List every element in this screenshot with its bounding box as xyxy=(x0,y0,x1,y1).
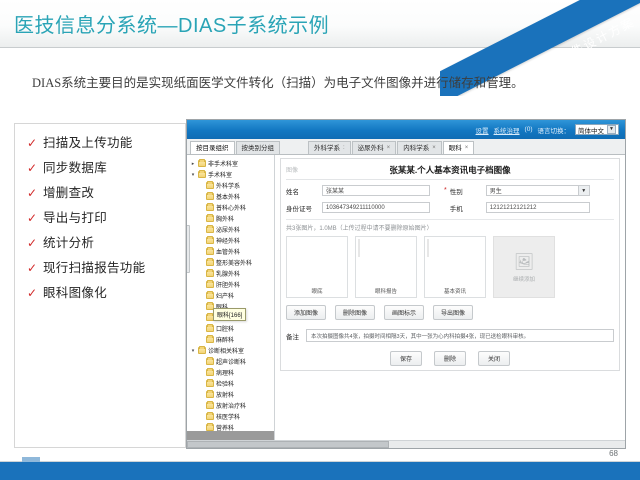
footer-bar xyxy=(0,462,640,480)
tree-node-label: 超声诊断科 xyxy=(216,357,246,366)
tree-node-label: 病理科 xyxy=(216,368,234,377)
tree-node[interactable]: 乳腺外科 xyxy=(189,268,274,279)
checklist-item: ✓同步数据库 xyxy=(27,161,177,175)
tree-node-label: 口腔科 xyxy=(216,324,234,333)
thumbnail-caption: 眼科报告 xyxy=(375,287,397,295)
checklist-item: ✓眼科图像化 xyxy=(27,286,177,300)
folder-icon xyxy=(206,325,214,332)
check-icon: ✓ xyxy=(27,236,43,250)
tab-label: 内科学系 xyxy=(403,143,429,154)
image-action-button-3[interactable]: 导出图像 xyxy=(433,305,473,320)
tree-node[interactable]: 放射治疗科 xyxy=(189,400,274,411)
app-topbar: 设置 系统治理 (0) 语言切换： 简体中文 ▼ xyxy=(187,120,625,139)
tree-node-label: 血管外科 xyxy=(216,247,240,256)
folder-icon xyxy=(206,292,214,299)
tree-node[interactable]: 普科心外科 xyxy=(189,202,274,213)
folder-icon xyxy=(206,413,214,420)
image-placeholder-icon: 🖼 xyxy=(514,252,534,272)
tree-tooltip: 眼科[166] xyxy=(213,308,246,321)
image-action-button-0[interactable]: 添加图像 xyxy=(286,305,326,320)
folder-icon xyxy=(206,424,214,431)
tree-node[interactable]: 麻醉科 xyxy=(189,334,274,345)
tree-node[interactable]: 泌尿外科 xyxy=(189,224,274,235)
close-icon[interactable]: × xyxy=(465,143,469,154)
form-row-id-tel: 身份证号 103647349211110000 * 手机 12121212121… xyxy=(286,202,614,213)
check-icon: ✓ xyxy=(27,186,43,200)
language-label: 语言切换： xyxy=(538,125,571,135)
checklist-item-label: 统计分析 xyxy=(43,236,94,250)
folder-icon xyxy=(206,248,214,255)
slide-root: 医技信息分系统—DIAS子系统示例 六、软件设计方案 DIAS系统主要目的是实现… xyxy=(0,0,640,480)
tree-node[interactable]: 血管外科 xyxy=(189,246,274,257)
expand-arrow-icon[interactable]: ▾ xyxy=(190,172,196,178)
form-divider xyxy=(286,179,614,180)
tree-node[interactable]: ▾诊断相关科室 xyxy=(189,345,274,356)
tree-node-label: 泌尿外科 xyxy=(216,225,240,234)
dias-application-window: 设置 系统治理 (0) 语言切换： 简体中文 ▼ 按目录组织按类别分组外科学系:… xyxy=(186,119,626,449)
tab-label: 外科学系 xyxy=(314,143,340,154)
form-footer-button-2[interactable]: 关闭 xyxy=(478,351,510,366)
image-count-note: 共3张图片，1.0MB（上传过程中请不要删除原始图片） xyxy=(286,219,614,232)
tree-node-label: 核医学科 xyxy=(216,412,240,421)
close-icon[interactable]: × xyxy=(432,143,436,154)
gender-value: 男生 xyxy=(490,186,502,195)
remark-label: 备注 xyxy=(286,331,306,341)
checklist-item-label: 现行扫描报告功能 xyxy=(43,261,145,275)
tree-node[interactable]: 放射科 xyxy=(189,389,274,400)
checklist-item: ✓导出与打印 xyxy=(27,211,177,225)
checklist-item-label: 同步数据库 xyxy=(43,161,107,175)
checklist-item-label: 眼科图像化 xyxy=(43,286,107,300)
checklist-item-label: 增删查改 xyxy=(43,186,94,200)
tree-node[interactable]: ▸非手术科室 xyxy=(189,158,274,169)
checklist-item: ✓现行扫描报告功能 xyxy=(27,261,177,275)
tree-node[interactable]: ▾手术科室 xyxy=(189,169,274,180)
remark-row: 备注 本次拍摄图像共4张，拍摄时间相隔3天，其中一张为心内科拍摄4张，现已送检眼… xyxy=(286,329,614,342)
tree-node-label: 神经外科 xyxy=(216,236,240,245)
checklist-item: ✓统计分析 xyxy=(27,236,177,250)
checklist-item-label: 导出与打印 xyxy=(43,211,107,225)
tab-label: 眼科 xyxy=(449,143,462,154)
tree-node-label: 肝胆外科 xyxy=(216,280,240,289)
tree-node-label: 普科心外科 xyxy=(216,203,246,212)
tree-node[interactable]: 妇产科 xyxy=(189,290,274,301)
tree-node[interactable]: 口腔科 xyxy=(189,323,274,334)
remark-input[interactable]: 本次拍摄图像共4张，拍摄时间相隔3天，其中一张为心内科拍摄4张，现已送检眼科审核… xyxy=(306,329,614,342)
folder-icon xyxy=(206,215,214,222)
department-tree[interactable]: ▸非手术科室▾手术科室外科学系基本外科普科心外科胸外科泌尿外科神经外科血管外科整… xyxy=(187,155,275,448)
tree-node-label: 放射治疗科 xyxy=(216,401,246,410)
form-header: 图像 张某某.个人基本资讯电子档图像 xyxy=(286,163,614,176)
thumbnail-info[interactable]: 基本资讯 xyxy=(424,236,486,298)
folder-icon xyxy=(206,402,214,409)
folder-icon xyxy=(198,171,206,178)
patient-form: 图像 张某某.个人基本资讯电子档图像 姓名 张某某 * 性别 男生 ▼ xyxy=(280,158,620,371)
image-action-button-2[interactable]: 画图标示 xyxy=(384,305,424,320)
tel-input[interactable]: 12121212121212 xyxy=(486,202,590,213)
language-value: 简体中文 xyxy=(578,125,604,135)
expand-arrow-icon[interactable]: ▸ xyxy=(190,161,196,167)
thumbnail-strip: 眼底眼科报告基本资讯🖼继续添加 xyxy=(286,236,614,298)
tab-0[interactable]: 按目录组织 xyxy=(190,141,235,154)
add-image-placeholder[interactable]: 🖼继续添加 xyxy=(493,236,555,298)
check-icon: ✓ xyxy=(27,286,43,300)
form-footer-button-1[interactable]: 删除 xyxy=(434,351,466,366)
tree-node-label: 诊断相关科室 xyxy=(208,346,244,355)
name-input[interactable]: 张某某 xyxy=(322,185,430,196)
check-icon: ✓ xyxy=(27,211,43,225)
tab-3[interactable]: 泌尿外科× xyxy=(352,141,397,154)
tree-node-label: 放射科 xyxy=(216,390,234,399)
chevron-down-icon: ▼ xyxy=(607,125,616,134)
patient-form-pane: 图像 张某某.个人基本资讯电子档图像 姓名 张某某 * 性别 男生 ▼ xyxy=(275,155,625,448)
thumbnail-scan[interactable]: 眼科报告 xyxy=(355,236,417,298)
checklist-item: ✓扫描及上传功能 xyxy=(27,136,177,150)
tree-node-label: 妇产科 xyxy=(216,291,234,300)
close-icon[interactable]: : xyxy=(343,143,345,154)
tel-label: 手机 xyxy=(450,203,486,213)
tree-node-label: 手术科室 xyxy=(208,170,232,179)
system-admin-link[interactable]: 系统治理 xyxy=(494,125,520,135)
tree-node[interactable]: 胸外科 xyxy=(189,213,274,224)
tree-node-label: 乳腺外科 xyxy=(216,269,240,278)
tab-label: 按类别分组 xyxy=(242,143,275,154)
tree-node-label: 基本外科 xyxy=(216,192,240,201)
horizontal-scrollbar[interactable] xyxy=(187,440,626,448)
image-action-buttons: 添加图像删除图像画图标示导出图像 xyxy=(286,305,614,320)
tree-node-label: 胸外科 xyxy=(216,214,234,223)
feature-checklist: ✓扫描及上传功能✓同步数据库✓增删查改✓导出与打印✓统计分析✓现行扫描报告功能✓… xyxy=(14,123,186,448)
slide-subtitle: DIAS系统主要目的是实现纸面医学文件转化（扫描）为电子文件图像并进行储存和管理… xyxy=(32,74,612,92)
folder-icon xyxy=(198,347,206,354)
chevron-down-icon: ▼ xyxy=(578,186,589,195)
expand-arrow-icon[interactable]: ▾ xyxy=(190,348,196,354)
tab-1[interactable]: 按类别分组 xyxy=(236,141,281,154)
tree-node[interactable]: 核医学科 xyxy=(189,411,274,422)
tree-node[interactable]: 检验科 xyxy=(189,378,274,389)
thumbnail-fundus[interactable]: 眼底 xyxy=(286,236,348,298)
tree-node[interactable]: 神经外科 xyxy=(189,235,274,246)
tree-node[interactable]: 外科学系 xyxy=(189,180,274,191)
tab-label: 泌尿外科 xyxy=(358,143,384,154)
thumbnail-image xyxy=(427,239,483,286)
form-footer-buttons: 保存删除关闭 xyxy=(286,351,614,366)
check-icon: ✓ xyxy=(27,161,43,175)
id-label: 身份证号 xyxy=(286,203,322,213)
folder-icon xyxy=(206,281,214,288)
app-body: ▸非手术科室▾手术科室外科学系基本外科普科心外科胸外科泌尿外科神经外科血管外科整… xyxy=(187,155,625,448)
gender-select[interactable]: 男生 ▼ xyxy=(486,185,590,196)
check-icon: ✓ xyxy=(27,261,43,275)
folder-icon xyxy=(206,193,214,200)
form-row-name-gender: 姓名 张某某 * 性别 男生 ▼ xyxy=(286,185,614,196)
tab-bar: 按目录组织按类别分组外科学系:泌尿外科×内科学系×眼科× xyxy=(187,139,625,155)
close-icon[interactable]: × xyxy=(387,143,391,154)
tab-4[interactable]: 内科学系× xyxy=(397,141,442,154)
folder-icon xyxy=(206,369,214,376)
folder-icon xyxy=(206,391,214,398)
folder-icon xyxy=(198,160,206,167)
required-marker: * xyxy=(444,187,447,194)
thumbnail-caption: 基本资讯 xyxy=(444,287,466,295)
folder-icon xyxy=(206,182,214,189)
thumbnail-caption: 眼底 xyxy=(311,287,322,295)
form-title: 张某某.个人基本资讯电子档图像 xyxy=(286,164,614,176)
tab-5[interactable]: 眼科× xyxy=(443,141,475,154)
tree-scrollbar[interactable] xyxy=(187,225,190,273)
tree-selected-row[interactable] xyxy=(187,431,275,440)
gender-label: 性别 xyxy=(450,186,486,196)
tree-node-label: 非手术科室 xyxy=(208,159,238,168)
page-title: 医技信息分系统—DIAS子系统示例 xyxy=(14,9,329,38)
tree-node-label: 检验科 xyxy=(216,379,234,388)
thumbnail-image xyxy=(289,239,345,286)
tab-2[interactable]: 外科学系: xyxy=(308,141,351,154)
checklist-item-label: 扫描及上传功能 xyxy=(43,136,133,150)
thumbnail-caption: 继续添加 xyxy=(513,275,535,283)
tree-node[interactable]: 整形美容外科 xyxy=(189,257,274,268)
folder-icon xyxy=(206,237,214,244)
folder-icon xyxy=(206,204,214,211)
folder-icon xyxy=(206,380,214,387)
tree-node-label: 整形美容外科 xyxy=(216,258,252,267)
folder-icon xyxy=(206,358,214,365)
checklist-item: ✓增删查改 xyxy=(27,186,177,200)
system-badge: (0) xyxy=(525,126,533,133)
id-input[interactable]: 103647349211110000 xyxy=(322,202,430,213)
image-action-button-1[interactable]: 删除图像 xyxy=(335,305,375,320)
settings-link[interactable]: 设置 xyxy=(476,125,489,135)
name-label: 姓名 xyxy=(286,186,322,196)
tree-node[interactable]: 超声诊断科 xyxy=(189,356,274,367)
folder-icon xyxy=(206,336,214,343)
thumbnail-image xyxy=(358,239,414,286)
folder-icon xyxy=(206,270,214,277)
tab-label: 按目录组织 xyxy=(196,143,229,154)
tree-node[interactable]: 病理科 xyxy=(189,367,274,378)
page-number: 68 xyxy=(609,449,618,458)
tree-node-label: 外科学系 xyxy=(216,181,240,190)
check-icon: ✓ xyxy=(27,136,43,150)
form-footer-button-0[interactable]: 保存 xyxy=(390,351,422,366)
tree-node[interactable]: 肝胆外科 xyxy=(189,279,274,290)
tree-node[interactable]: 基本外科 xyxy=(189,191,274,202)
folder-icon xyxy=(206,226,214,233)
language-select[interactable]: 简体中文 ▼ xyxy=(575,124,619,135)
folder-icon xyxy=(206,259,214,266)
tree-node-label: 麻醉科 xyxy=(216,335,234,344)
